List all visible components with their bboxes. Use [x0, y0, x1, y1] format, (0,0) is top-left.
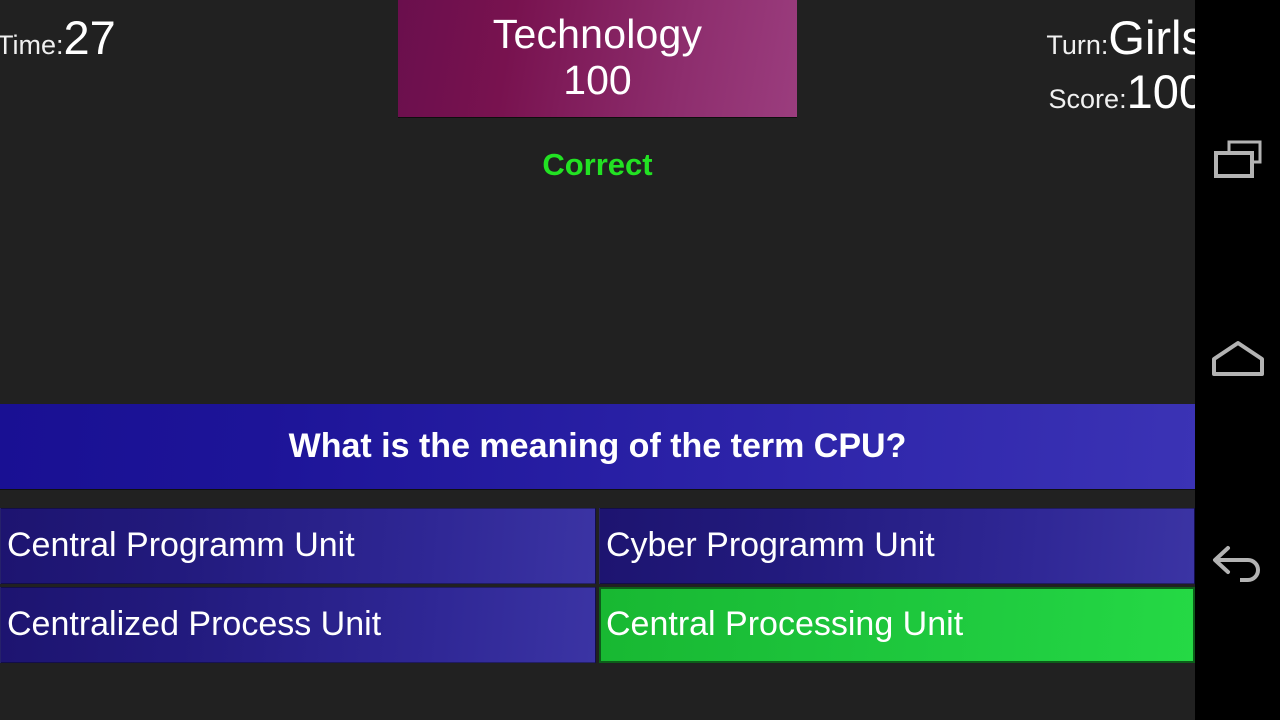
turn-value: Girls: [1108, 11, 1195, 64]
app-screen: Time:27 Turn:Girls Score:100 Technology …: [0, 0, 1280, 720]
game-header: Time:27 Turn:Girls Score:100 Technology …: [0, 0, 1195, 125]
turn-label: Turn:: [1046, 30, 1108, 60]
answer-feedback-text: Correct: [0, 146, 1195, 183]
answer-option-3[interactable]: Centralized Process Unit: [0, 587, 596, 663]
category-point-value: 100: [563, 56, 631, 104]
timer-display: Time:27: [0, 14, 116, 61]
recents-icon: [1210, 137, 1266, 183]
home-button[interactable]: [1195, 316, 1280, 401]
back-button[interactable]: [1195, 523, 1280, 608]
answer-option-1[interactable]: Central Programm Unit: [0, 508, 596, 584]
score-label: Score:: [1049, 84, 1127, 114]
timer-value: 27: [64, 11, 116, 64]
android-navigation-bar: [1195, 0, 1280, 720]
category-name: Technology: [493, 12, 702, 56]
home-icon: [1210, 339, 1266, 379]
back-icon: [1210, 542, 1266, 590]
answer-option-4[interactable]: Central Processing Unit: [599, 587, 1195, 663]
timer-label: Time:: [0, 30, 64, 60]
score-value: 100: [1127, 65, 1195, 118]
category-banner: Technology 100: [398, 0, 797, 117]
answer-option-2[interactable]: Cyber Programm Unit: [599, 508, 1195, 584]
question-banner: What is the meaning of the term CPU?: [0, 404, 1195, 489]
question-text: What is the meaning of the term CPU?: [289, 428, 907, 465]
answer-options-grid: Central Programm Unit Cyber Programm Uni…: [0, 508, 1195, 663]
turn-display: Turn:Girls: [1046, 14, 1195, 61]
quiz-game-area: Time:27 Turn:Girls Score:100 Technology …: [0, 0, 1195, 720]
score-display: Score:100: [1049, 68, 1195, 115]
recents-button[interactable]: [1195, 117, 1280, 202]
